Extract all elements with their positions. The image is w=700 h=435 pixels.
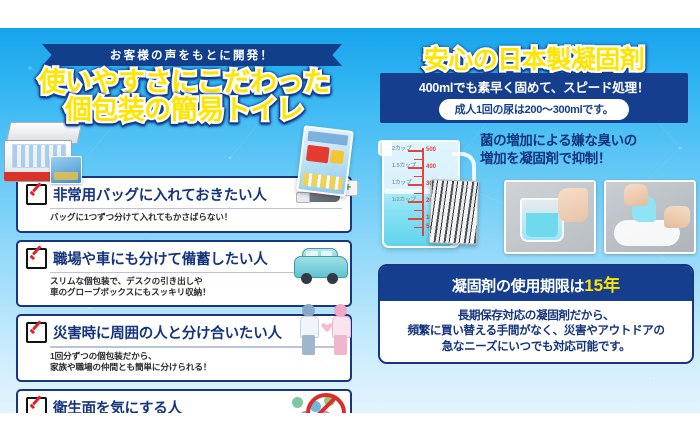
- product-box-photo: [2, 120, 88, 192]
- divider: [50, 208, 342, 209]
- product-package-photo: [296, 125, 354, 197]
- checkmark-icon: [26, 322, 47, 343]
- benefit-subtext: バッグに1つずつ分けて入れてもかさばらない！: [50, 212, 342, 223]
- shelf-life-line-2: 頻繁に買い替える手間がなく、災害やアウトドアの: [388, 323, 684, 338]
- benefit-card-list: 非常用バッグに入れておきたい人 バッグに1つずつ分けて入れてもかさばらない！ 職…: [16, 176, 352, 413]
- odor-message: 菌の増加による嫌な臭いの 増加を凝固剤で抑制！: [480, 132, 696, 167]
- benefit-title: 災害時に周囲の人と分け合いたい人: [53, 322, 282, 343]
- benefit-card: 災害時に周囲の人と分け合いたい人 1回分ずつの個包装だから、 家族や職場の仲間と…: [16, 314, 352, 382]
- beaker-side-label: 1/2カップ: [392, 198, 416, 204]
- odor-message-line-2: 増加を凝固剤で抑制！: [480, 150, 696, 168]
- benefit-subtext-2: 家族や職場の仲間とも簡単に分けられる！: [50, 362, 342, 373]
- main-headline: 使いやすさにこだわった 個包装の簡易トイレ: [0, 68, 368, 125]
- demo-photo-pouring: [504, 180, 596, 254]
- benefit-subtext: 1回分ずつの個包装だから、: [50, 351, 342, 362]
- beaker-tick-label: 500: [426, 147, 436, 153]
- shelf-life-body: 長期保存対応の凝固剤だから、 頻繁に買い替える手間がなく、災害やアウトドアの 急…: [380, 301, 692, 362]
- left-panel: お客様の声をもとに開発！ 使いやすさにこだわった 個包装の簡易トイレ 非常用バッ…: [0, 28, 368, 413]
- shelf-life-head-text: 凝固剤の使用期限は: [452, 278, 584, 295]
- right-title: 安心の日本製凝固剤: [368, 40, 700, 76]
- divider: [50, 272, 342, 273]
- demo-photo-gelled: [604, 180, 696, 254]
- speed-claim-bar: 400mlでも素早く固めて、スピード処理！ 成人1回の尿は200〜300mlです…: [380, 73, 688, 123]
- ribbon-label: お客様の声をもとに開発！: [110, 47, 274, 63]
- benefit-subtext-2: 車のグローブボックスにもスッキリ収納！: [50, 287, 342, 298]
- shelf-life-line-1: 長期保存対応の凝固剤だから、: [388, 308, 684, 323]
- shelf-life-highlight: 15年: [584, 276, 620, 295]
- benefit-title: 職場や車にも分けて備蓄したい人: [53, 248, 268, 269]
- benefit-title: 衛生面を気にする人: [53, 397, 182, 413]
- ribbon-banner: お客様の声をもとに開発！: [42, 44, 342, 66]
- speed-claim-line: 400mlでも素早く固めて、スピード処理！: [419, 77, 649, 96]
- right-title-text: 安心の日本製凝固剤: [424, 46, 645, 74]
- checkmark-icon: [26, 397, 47, 413]
- shelf-life-header: 凝固剤の使用期限は15年: [380, 266, 692, 301]
- checkmark-icon: [26, 248, 47, 269]
- beaker-side-label: 1カップ: [392, 181, 412, 187]
- headline-line-2: 個包装の簡易トイレ: [0, 96, 368, 125]
- shelf-life-line-3: 急なニーズにいつでも対応可能です。: [388, 339, 684, 354]
- coagulant-sachet-photo: [429, 179, 479, 245]
- beaker-tick-label: 400: [426, 164, 436, 170]
- urine-volume-pill: 成人1回の尿は200〜300mlです。: [439, 99, 630, 120]
- benefit-card: 職場や車にも分けて備蓄したい人 スリムな個包装で、デスクの引き出しや 車のグロー…: [16, 240, 352, 308]
- beaker-side-label: 2カップ: [392, 147, 412, 153]
- odor-message-line-1: 菌の増加による嫌な臭いの: [480, 132, 696, 150]
- divider: [50, 346, 342, 347]
- benefit-subtext: スリムな個包装で、デスクの引き出しや: [50, 276, 342, 287]
- headline-line-1: 使いやすさにこだわった: [0, 68, 368, 97]
- shelf-life-box: 凝固剤の使用期限は15年 長期保存対応の凝固剤だから、 頻繁に買い替える手間がな…: [378, 264, 694, 364]
- beaker-side-label: 1.5カップ: [392, 164, 416, 170]
- banner-background: お客様の声をもとに開発！ 使いやすさにこだわった 個包装の簡易トイレ 非常用バッ…: [0, 28, 700, 413]
- demo-photo-row: [504, 180, 696, 254]
- benefit-card: 衛生面を気にする人 長期間の備蓄でも汚れや湿気を防げる。: [16, 389, 352, 413]
- advertisement-banner: お客様の声をもとに開発！ 使いやすさにこだわった 個包装の簡易トイレ 非常用バッ…: [0, 0, 700, 435]
- urine-volume-text: 成人1回の尿は200〜300mlです。: [455, 104, 614, 116]
- right-panel: 安心の日本製凝固剤 400mlでも素早く固めて、スピード処理！ 成人1回の尿は2…: [368, 28, 700, 413]
